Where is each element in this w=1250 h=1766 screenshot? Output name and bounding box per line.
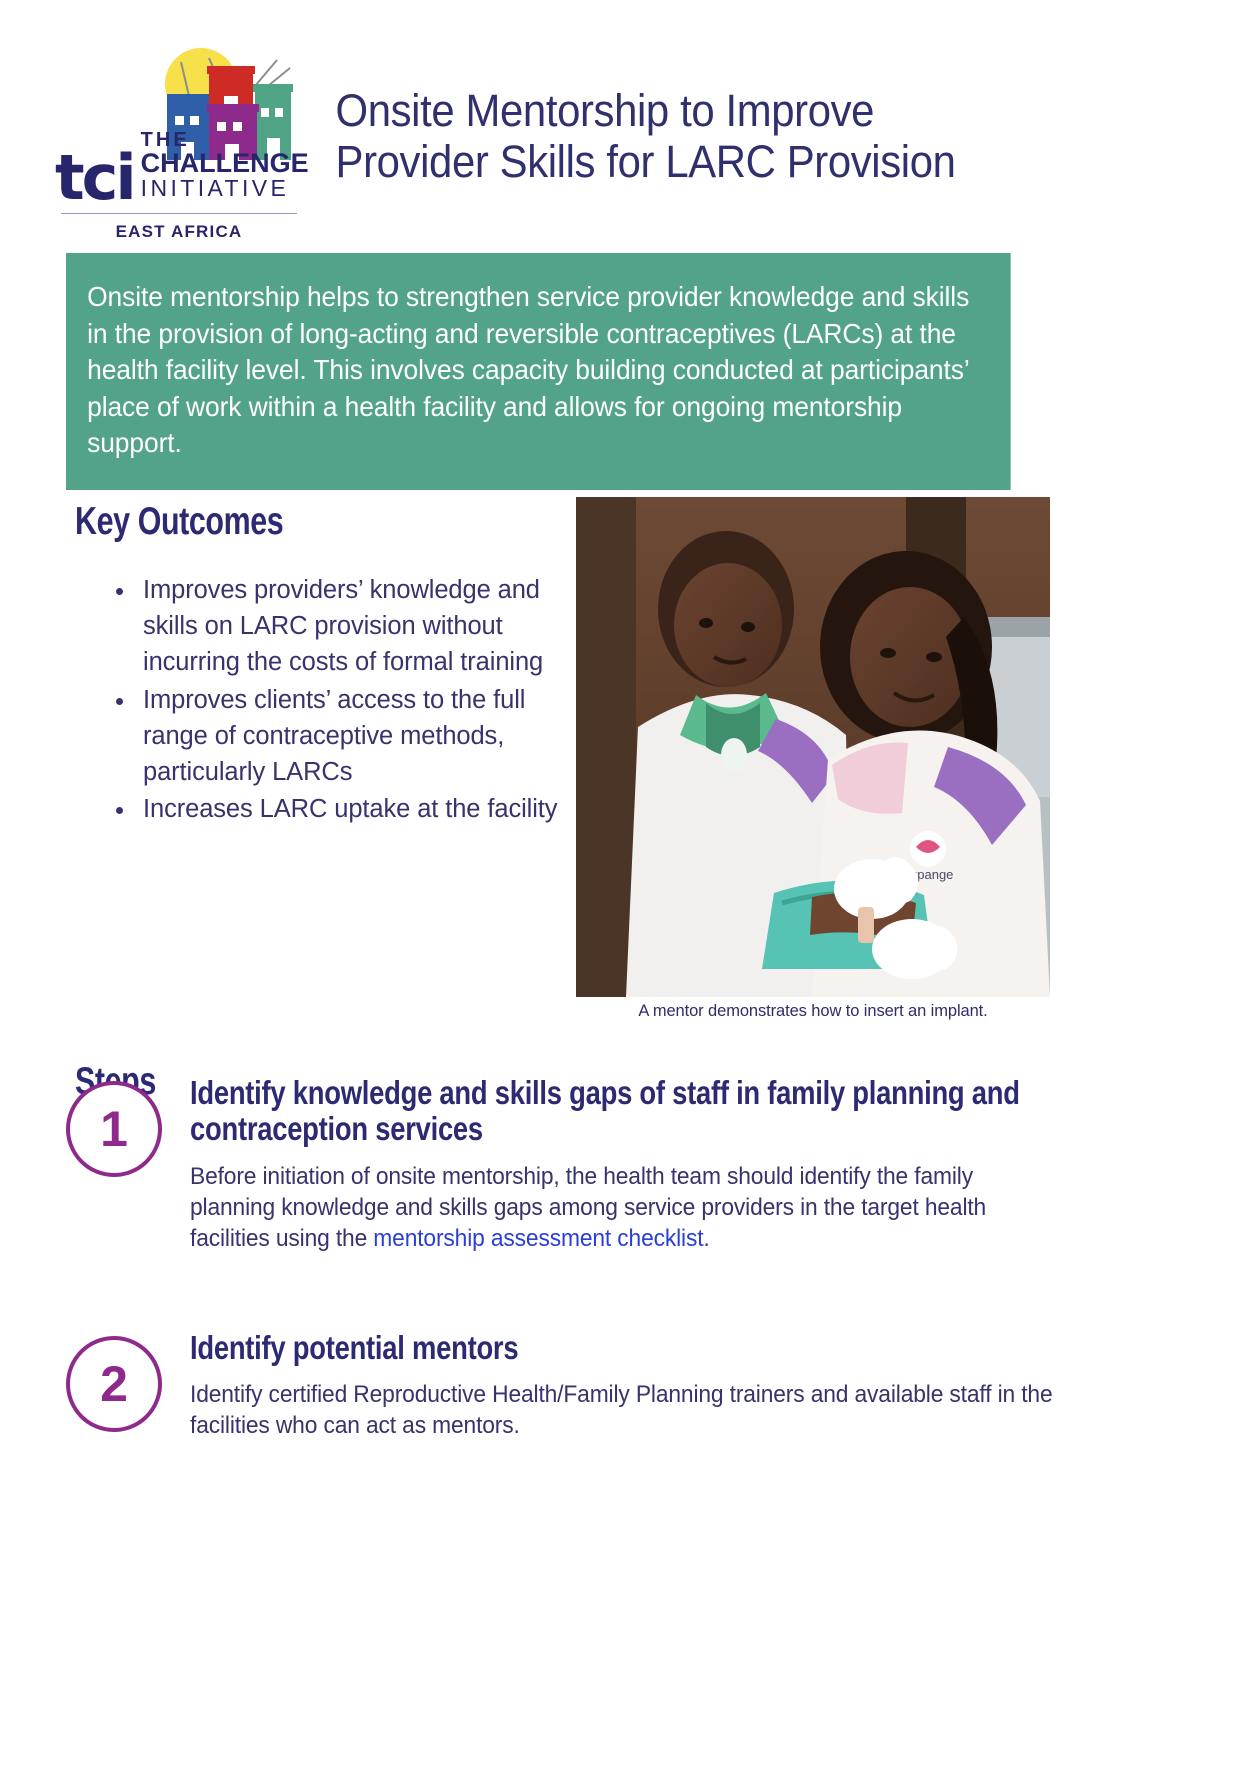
tci-mark-text: tci [55, 153, 134, 204]
step-body: Identify knowledge and skills gaps of st… [162, 1075, 1066, 1254]
intro-callout: Onsite mentorship helps to strengthen se… [66, 253, 1011, 490]
logo-words: THE CHALLENGE INITIATIVE [141, 130, 309, 204]
list-item: Improves clients’ access to the full ran… [137, 682, 565, 791]
page-header: tci THE CHALLENGE INITIATIVE EAST AFRICA… [0, 0, 1250, 200]
page-title-line1: Onsite Mentorship to Improve [336, 86, 1156, 137]
step-description: Before initiation of onsite mentorship, … [190, 1161, 1064, 1255]
logo-wordmark: tci THE CHALLENGE INITIATIVE [55, 130, 303, 204]
step-description-tail: . [703, 1225, 709, 1252]
page-title: Onsite Mentorship to Improve Provider Sk… [303, 28, 1156, 188]
step-description: Identify certified Reproductive Health/F… [190, 1379, 1064, 1441]
key-outcomes-section: Key Outcomes Improves providers’ knowled… [75, 500, 565, 828]
step-title: Identify potential mentors [190, 1330, 1062, 1366]
key-outcomes-heading: Key Outcomes [75, 500, 457, 544]
tci-logo: tci THE CHALLENGE INITIATIVE EAST AFRICA [55, 28, 303, 242]
list-item: Improves providers’ knowledge and skills… [137, 572, 565, 681]
logo-challenge-text: CHALLENGE [141, 150, 309, 177]
step-number-badge: 2 [66, 1336, 162, 1432]
step-number-badge: 1 [66, 1081, 162, 1177]
mentor-photo: Tupange [576, 497, 1050, 997]
step-item-2: 2 Identify potential mentors Identify ce… [66, 1330, 1066, 1442]
step-description-text: Identify certified Reproductive Health/F… [190, 1381, 1052, 1439]
step-body: Identify potential mentors Identify cert… [162, 1330, 1066, 1442]
step-title: Identify knowledge and skills gaps of st… [190, 1075, 1062, 1148]
page-title-line2: Provider Skills for LARC Provision [336, 137, 1156, 188]
photo-caption: A mentor demonstrates how to insert an i… [576, 1002, 1050, 1021]
step-item-1: 1 Identify knowledge and skills gaps of … [66, 1075, 1066, 1254]
logo-region-text: EAST AFRICA [55, 222, 303, 242]
mentorship-assessment-checklist-link[interactable]: mentorship assessment checklist [373, 1225, 703, 1252]
logo-the-text: THE [141, 130, 309, 150]
logo-initiative-text: INITIATIVE [141, 177, 309, 200]
key-outcomes-list: Improves providers’ knowledge and skills… [75, 572, 565, 827]
intro-text: Onsite mentorship helps to strengthen se… [87, 281, 969, 458]
list-item: Increases LARC uptake at the facility [137, 791, 565, 827]
